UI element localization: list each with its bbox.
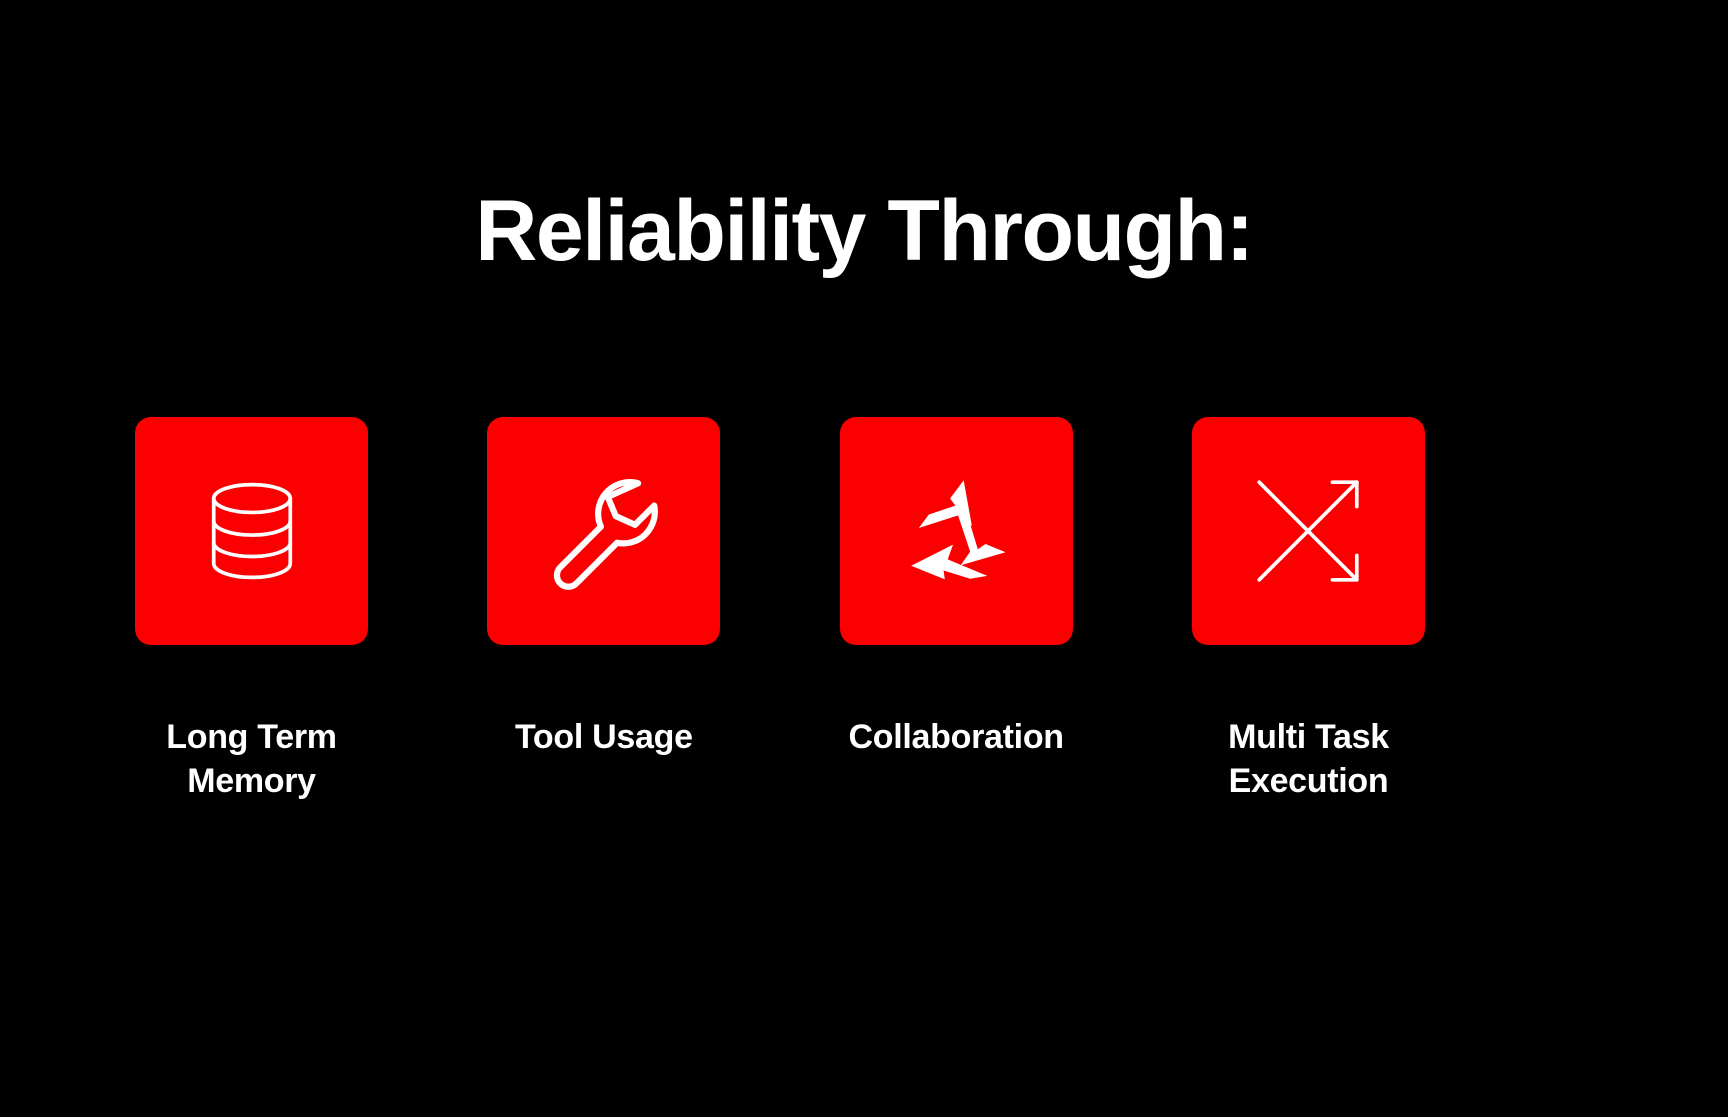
feature-card-long-term-memory[interactable]: Long Term Memory xyxy=(135,417,368,803)
database-icon xyxy=(194,473,310,589)
icon-tile[interactable] xyxy=(135,417,368,645)
shuffle-arrows-icon xyxy=(1247,470,1369,592)
card-label: Long Term Memory xyxy=(166,715,336,803)
icon-tile[interactable] xyxy=(487,417,720,645)
feature-card-tool-usage[interactable]: Tool Usage xyxy=(487,417,720,759)
card-label: Collaboration xyxy=(849,715,1064,759)
card-label: Tool Usage xyxy=(515,715,693,759)
feature-card-collaboration[interactable]: Collaboration xyxy=(840,417,1073,759)
page-title: Reliability Through: xyxy=(0,186,1728,276)
feature-card-row: Long Term Memory Tool Usage xyxy=(135,417,1425,803)
slide-canvas: Reliability Through: Long Term Memory xyxy=(0,0,1728,1117)
wrench-icon xyxy=(542,469,666,593)
card-label: Multi Task Execution xyxy=(1228,715,1389,803)
recycle-arrows-icon xyxy=(897,472,1015,590)
feature-card-multi-task-execution[interactable]: Multi Task Execution xyxy=(1192,417,1425,803)
icon-tile[interactable] xyxy=(1192,417,1425,645)
icon-tile[interactable] xyxy=(840,417,1073,645)
